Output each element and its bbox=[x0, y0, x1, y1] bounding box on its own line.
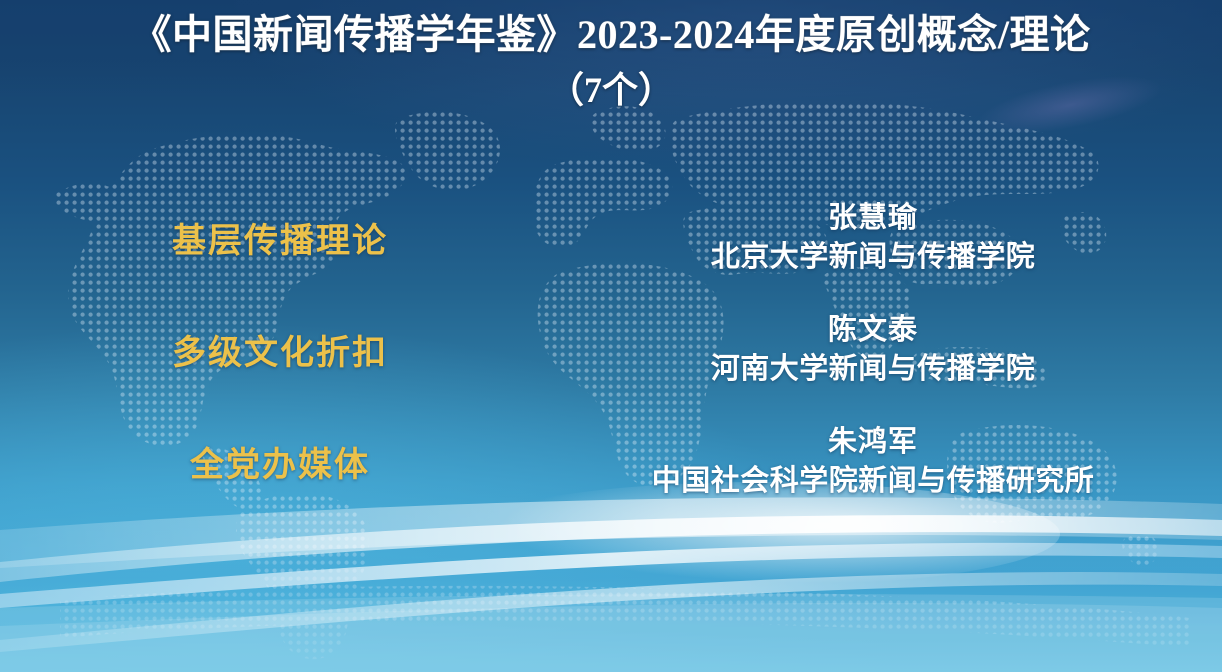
entry-list: 基层传播理论 张慧瑜 北京大学新闻与传播学院 多级文化折扣 陈文泰 河南大学新闻… bbox=[0, 190, 1222, 526]
author-block: 张慧瑜 北京大学新闻与传播学院 bbox=[560, 199, 1222, 276]
slide-title: 《中国新闻传播学年鉴》2023-2024年度原创概念/理论 bbox=[0, 8, 1222, 62]
slide-title-block: 《中国新闻传播学年鉴》2023-2024年度原创概念/理论 （7个） bbox=[0, 8, 1222, 114]
presentation-slide: 《中国新闻传播学年鉴》2023-2024年度原创概念/理论 （7个） 基层传播理… bbox=[0, 0, 1222, 672]
author-name: 朱鸿军 bbox=[560, 423, 1186, 461]
slide-subtitle: （7个） bbox=[0, 66, 1222, 114]
concept-label: 多级文化折扣 bbox=[0, 325, 560, 374]
entry-row-2: 多级文化折扣 陈文泰 河南大学新闻与传播学院 bbox=[0, 302, 1222, 397]
concept-label: 基层传播理论 bbox=[0, 213, 560, 262]
concept-label: 全党办媒体 bbox=[0, 437, 560, 486]
author-affiliation: 北京大学新闻与传播学院 bbox=[560, 238, 1186, 276]
author-name: 张慧瑜 bbox=[560, 199, 1186, 237]
author-block: 朱鸿军 中国社会科学院新闻与传播研究所 bbox=[560, 423, 1222, 500]
author-affiliation: 河南大学新闻与传播学院 bbox=[560, 350, 1186, 388]
entry-row-3: 全党办媒体 朱鸿军 中国社会科学院新闻与传播研究所 bbox=[0, 414, 1222, 509]
author-name: 陈文泰 bbox=[560, 311, 1186, 349]
author-block: 陈文泰 河南大学新闻与传播学院 bbox=[560, 311, 1222, 388]
slide-content: 《中国新闻传播学年鉴》2023-2024年度原创概念/理论 （7个） 基层传播理… bbox=[0, 0, 1222, 672]
entry-row-1: 基层传播理论 张慧瑜 北京大学新闻与传播学院 bbox=[0, 190, 1222, 285]
author-affiliation: 中国社会科学院新闻与传播研究所 bbox=[560, 462, 1186, 500]
